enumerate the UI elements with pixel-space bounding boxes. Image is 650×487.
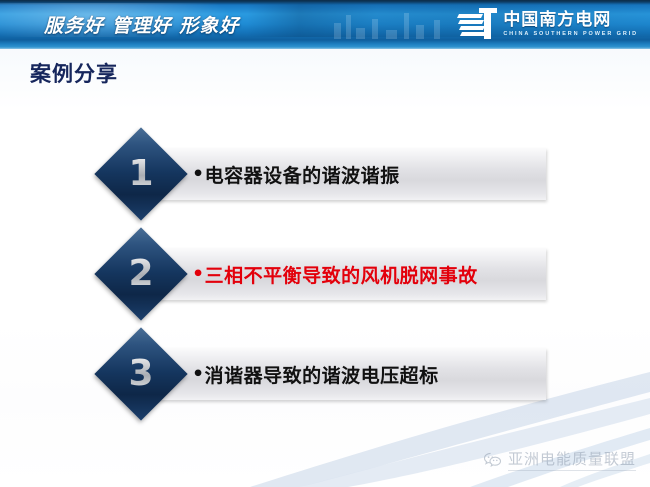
list-item[interactable]: 2 •三相不平衡导致的风机脱网事故 [108, 248, 546, 300]
header-slogan: 服务好 管理好 形象好 [44, 11, 239, 38]
item-bullet: • [192, 163, 205, 185]
item-text: 消谐器导致的谐波电压超标 [205, 361, 439, 388]
item-label: •电容器设备的谐波谐振 [192, 148, 400, 200]
company-logo: 中国南方电网 CHINA SOUTHERN POWER GRID [457, 5, 638, 45]
list-item[interactable]: 3 •消谐器导致的谐波电压超标 [108, 348, 546, 400]
item-bullet: • [192, 363, 205, 385]
footer-watermark: 亚洲电能质量联盟 [483, 448, 636, 471]
item-text: 三相不平衡导致的风机脱网事故 [205, 261, 478, 288]
header-banner: 服务好 管理好 形象好 中国南方电网 CHINA SOUTHERN POWER [0, 0, 650, 49]
swoosh-arc-2 [300, 398, 650, 487]
slide-canvas: 服务好 管理好 形象好 中国南方电网 CHINA SOUTHERN POWER [0, 0, 650, 487]
item-number: 1 [108, 141, 174, 207]
item-text: 电容器设备的谐波谐振 [205, 161, 400, 188]
item-number: 3 [108, 341, 174, 407]
item-label: •三相不平衡导致的风机脱网事故 [192, 248, 478, 300]
page-title: 案例分享 [30, 58, 118, 88]
item-number-diamond: 1 [94, 127, 187, 220]
logo-name-en: CHINA SOUTHERN POWER GRID [503, 32, 638, 38]
item-bullet: • [192, 263, 205, 285]
watermark-label: 亚洲电能质量联盟 [508, 448, 636, 471]
logo-name-cn: 中国南方电网 [503, 12, 638, 29]
item-number-diamond: 2 [94, 227, 187, 320]
item-label: •消谐器导致的谐波电压超标 [192, 348, 439, 400]
list-item[interactable]: 1 •电容器设备的谐波谐振 [108, 148, 546, 200]
power-grid-logo-icon [457, 8, 497, 42]
wechat-icon [483, 452, 503, 468]
item-number: 2 [108, 241, 174, 307]
logo-text-block: 中国南方电网 CHINA SOUTHERN POWER GRID [503, 12, 638, 38]
item-number-diamond: 3 [94, 327, 187, 420]
